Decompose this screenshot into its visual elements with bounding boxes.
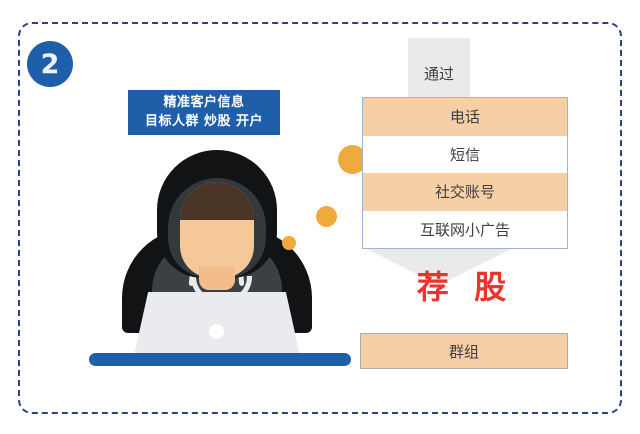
step-badge: 2 xyxy=(27,41,73,87)
info-label-line-2: 目标人群 炒股 开户 xyxy=(145,114,263,130)
via-caption-text: 通过 xyxy=(424,63,454,84)
via-caption: 通过 xyxy=(408,58,470,88)
laptop-logo-icon xyxy=(209,324,224,339)
infographic-canvas: 2 精准客户信息 目标人群 炒股 开户 通过 电话 短信 社 xyxy=(0,0,640,434)
info-label-line-1: 精准客户信息 xyxy=(163,95,244,111)
group-box: 群组 xyxy=(360,333,568,369)
headline-text: 荐 股 xyxy=(417,262,513,308)
step-badge-number: 2 xyxy=(41,51,60,78)
orange-dot-small xyxy=(282,236,296,250)
hooded-hacker-illustration xyxy=(95,148,340,363)
channel-row-phone: 电话 xyxy=(363,98,567,136)
orange-dot-medium xyxy=(316,206,337,227)
desk-bar xyxy=(89,353,351,366)
neck xyxy=(199,266,235,290)
channel-row-sms: 短信 xyxy=(363,136,567,174)
channel-row-social: 社交账号 xyxy=(363,173,567,211)
headline-stock-pitch: 荐 股 xyxy=(362,262,568,308)
group-box-label: 群组 xyxy=(449,341,479,362)
channel-label-social: 社交账号 xyxy=(435,181,495,202)
channel-label-web-ads: 互联网小广告 xyxy=(420,219,510,240)
target-info-label: 精准客户信息 目标人群 炒股 开户 xyxy=(128,90,280,135)
channel-row-web-ads: 互联网小广告 xyxy=(363,211,567,249)
channel-list-box: 电话 短信 社交账号 互联网小广告 xyxy=(362,97,568,249)
channel-label-phone: 电话 xyxy=(450,106,480,127)
channel-label-sms: 短信 xyxy=(450,144,480,165)
